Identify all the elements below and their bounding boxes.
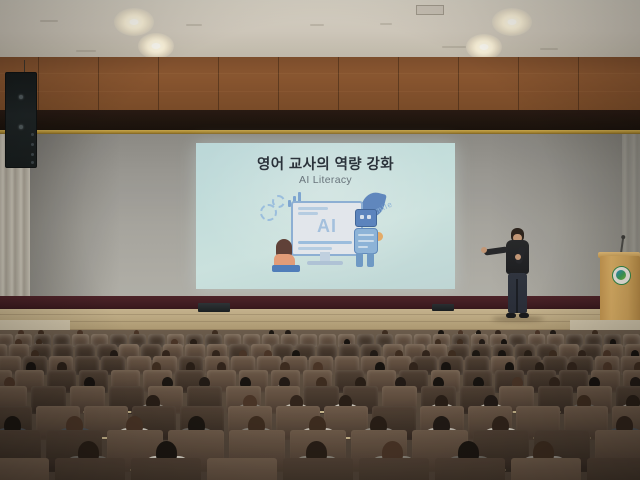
ceiling-seam [442, 46, 466, 48]
monitor-neck [320, 252, 330, 261]
auditorium-scene: 영어 교사의 역량 강화 AI Literacy smile AI [0, 0, 640, 480]
robot-icon [353, 209, 377, 267]
ceiling-downlight [138, 33, 174, 59]
slide-title: 영어 교사의 역량 강화 [196, 153, 455, 174]
ceiling-vent-icon [416, 5, 444, 15]
presenter-left-hand [481, 247, 487, 253]
robot-head [355, 209, 377, 227]
presenter-right-hand [515, 254, 521, 260]
monitor-ai-text: AI [293, 216, 361, 237]
wood-panel-wall [0, 57, 640, 110]
presenter-shoe [506, 313, 516, 318]
audience-seat [511, 458, 581, 480]
audience-seat [207, 458, 277, 480]
seated-person-icon [272, 239, 302, 272]
ceiling-seam [310, 24, 324, 26]
audience-seat [0, 458, 49, 480]
audience-seat [359, 458, 429, 480]
ceiling-seam [186, 24, 202, 26]
audience-seat [283, 458, 353, 480]
ceiling-seam [40, 20, 58, 22]
upper-dark-band [0, 110, 640, 130]
line-array-speaker [5, 72, 37, 168]
ceiling-seam [540, 48, 558, 50]
robot-body [354, 228, 378, 254]
stage-monitor-speaker [198, 303, 230, 312]
audience-seat [131, 458, 201, 480]
ceiling [0, 0, 640, 57]
stage-monitor-speaker [432, 304, 454, 311]
speaker-suspension-wire [24, 60, 25, 72]
school-emblem-icon [612, 266, 631, 285]
ceiling-downlight [492, 8, 532, 36]
audience-seat [55, 458, 125, 480]
ceiling-seam [76, 50, 96, 52]
ceiling-seam [380, 23, 392, 25]
audience-seat [587, 458, 640, 480]
stage-front-band [0, 296, 640, 309]
presenter-shoe [519, 313, 529, 318]
projection-screen: 영어 교사의 역량 강화 AI Literacy smile AI [196, 143, 455, 289]
ceiling-downlight [114, 8, 154, 36]
slide-illustration: smile AI [258, 192, 393, 282]
presenter-legs [508, 273, 527, 313]
monitor-base [307, 261, 343, 265]
gear-icon [272, 195, 285, 208]
slide-subtitle: AI Literacy [196, 174, 455, 186]
audience-seat [435, 458, 505, 480]
presenter [497, 228, 539, 320]
